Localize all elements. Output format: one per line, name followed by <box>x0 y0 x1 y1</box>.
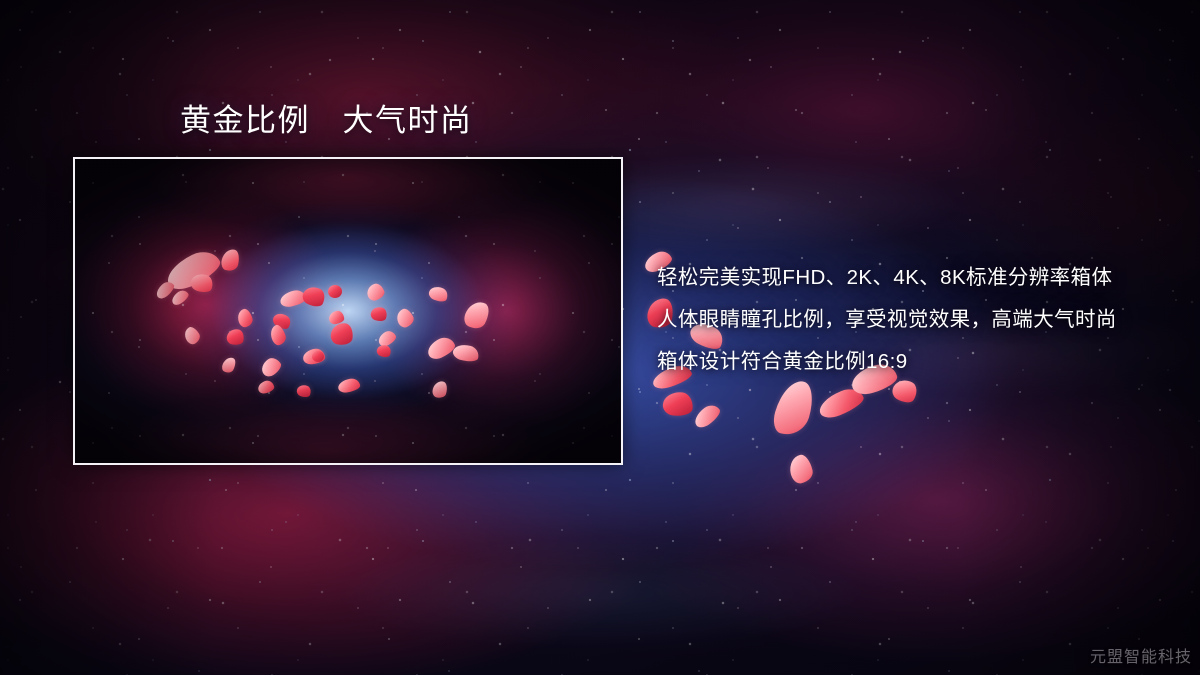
photo-vignette <box>75 159 621 463</box>
body-line-3: 箱体设计符合黄金比例16:9 <box>657 341 1177 383</box>
body-text-block: 轻松完美实现FHD、2K、4K、8K标准分辨率箱体 人体眼睛瞳孔比例，享受视觉效… <box>657 257 1177 383</box>
product-image <box>75 159 621 463</box>
body-line-1: 轻松完美实现FHD、2K、4K、8K标准分辨率箱体 <box>657 257 1177 299</box>
watermark: 元盟智能科技 <box>1090 643 1192 667</box>
presentation-slide: 黄金比例 大气时尚 <box>0 0 1200 675</box>
page-title: 黄金比例 大气时尚 <box>180 101 473 141</box>
body-line-2: 人体眼睛瞳孔比例，享受视觉效果，高端大气时尚 <box>657 299 1177 341</box>
product-image-frame <box>73 157 623 465</box>
